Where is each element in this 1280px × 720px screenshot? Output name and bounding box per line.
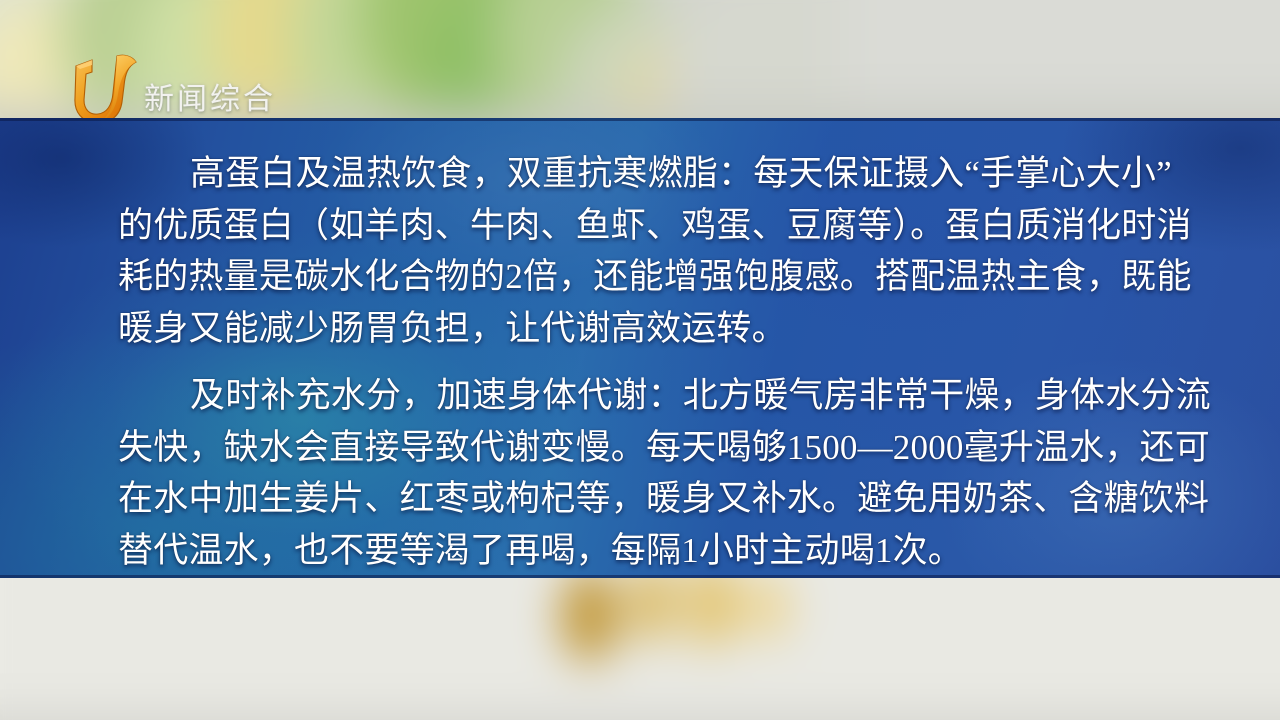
- channel-logo: 新闻综合: [62, 48, 276, 120]
- text-line: 耗的热量是碳水化合物的2倍，还能增强饱腹感。搭配温热主食，既能: [118, 251, 1162, 303]
- text-line: 暖身又能减少肠胃负担，让代谢高效运转。: [118, 303, 1162, 355]
- channel-name-label: 新闻综合: [144, 74, 276, 120]
- article-text: 高蛋白及温热饮食，双重抗寒燃脂：每天保证摄入“手掌心大小” 的优质蛋白（如羊肉、…: [0, 118, 1280, 578]
- text-line: 失快，缺水会直接导致代谢变慢。每天喝够1500—2000毫升温水，还可: [118, 422, 1162, 474]
- text-line: 及时补充水分，加速身体代谢：北方暖气房非常干燥，身体水分流: [118, 370, 1162, 422]
- bottom-blurred-photo: [0, 578, 1280, 720]
- text-line: 替代温水，也不要等渴了再喝，每隔1小时主动喝1次。: [118, 525, 1162, 577]
- text-line: 的优质蛋白（如羊肉、牛肉、鱼虾、鸡蛋、豆腐等）。蛋白质消化时消: [118, 200, 1162, 252]
- top-background-band: 新闻综合: [0, 0, 1280, 120]
- bottom-background-band: [0, 578, 1280, 720]
- text-line: 在水中加生姜片、红枣或枸杞等，暖身又补水。避免用奶茶、含糖饮料: [118, 473, 1162, 525]
- u-ribbon-logo-icon: [62, 48, 140, 120]
- text-line: 高蛋白及温热饮食，双重抗寒燃脂：每天保证摄入“手掌心大小”: [118, 148, 1162, 200]
- broadcast-screen: 新闻综合 高蛋白及温热饮食，双重抗寒燃脂：每天保证摄入“手掌心大小” 的优质蛋白…: [0, 0, 1280, 720]
